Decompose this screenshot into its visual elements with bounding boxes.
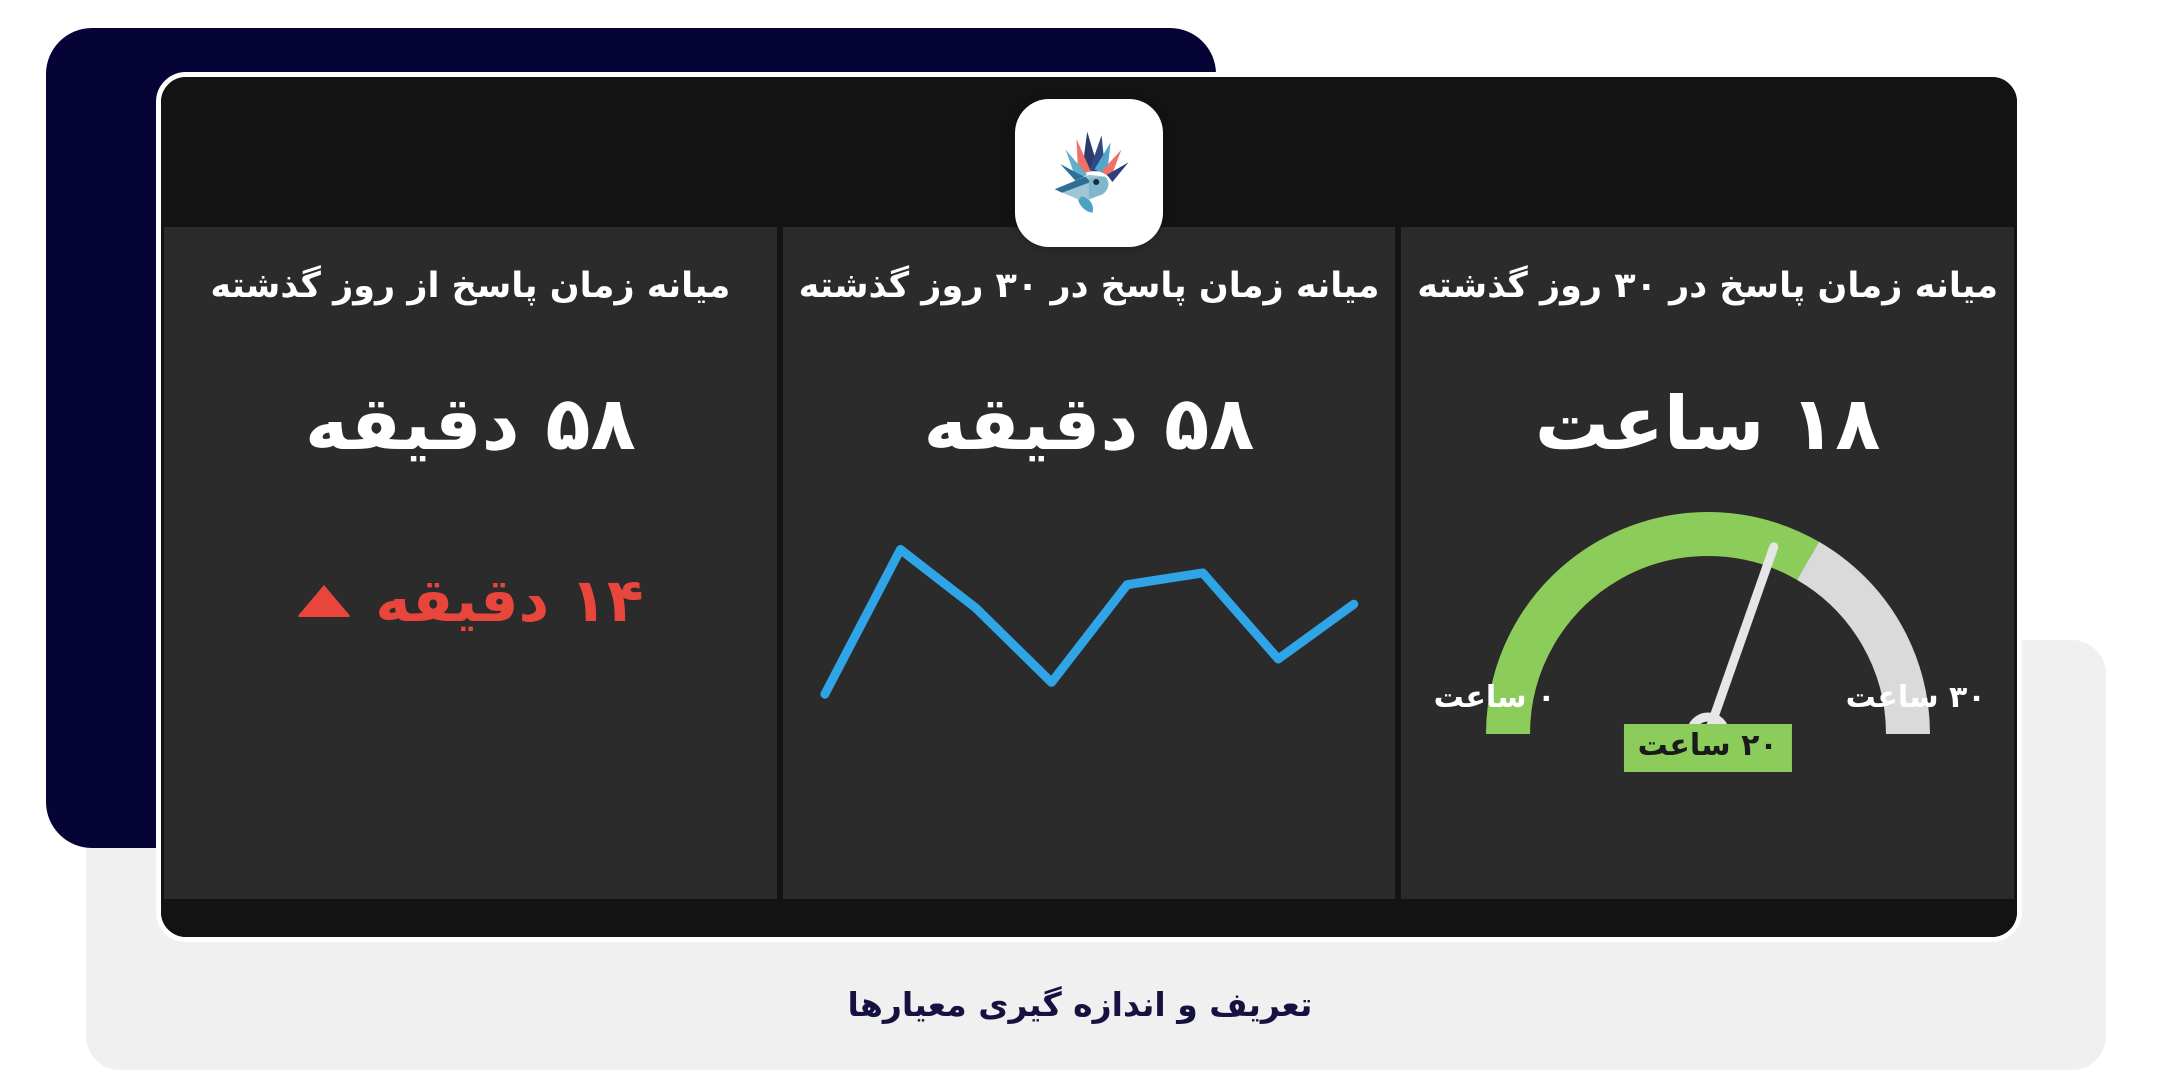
dashboard-panel: میانه زمان پاسخ در ۳۰ روز گذشته ۱۸ ساعت … [156,72,2022,942]
metric-card-gauge[interactable]: میانه زمان پاسخ در ۳۰ روز گذشته ۱۸ ساعت … [1401,227,2014,899]
card-value: ۱۸ ساعت [1535,384,1881,465]
hummingbird-logo-icon [1015,99,1163,247]
delta-indicator: ۱۴ دقیقه [297,566,643,636]
gauge-max-label: ۳۰ ساعت [1846,680,1986,715]
page-caption: تعریف و اندازه گیری معیارها [0,985,2160,1024]
metric-card-delta[interactable]: میانه زمان پاسخ از روز گذشته ۵۸ دقیقه ۱۴… [164,227,777,899]
card-value: ۵۸ دقیقه [305,384,636,465]
sparkline-chart [813,504,1366,714]
gauge-target-badge: ۲۰ ساعت [1624,724,1792,772]
metric-cards-row: میانه زمان پاسخ در ۳۰ روز گذشته ۱۸ ساعت … [161,227,2017,937]
gauge-min-label: ۰ ساعت [1434,680,1556,715]
screenshot-root: میانه زمان پاسخ در ۳۰ روز گذشته ۱۸ ساعت … [0,0,2160,1080]
card-title: میانه زمان پاسخ از روز گذشته [210,263,730,310]
card-value: ۵۸ دقیقه [924,384,1255,465]
card-title: میانه زمان پاسخ در ۳۰ روز گذشته [799,263,1380,310]
triangle-up-icon [297,585,351,617]
dashboard-topbar [161,77,2017,227]
delta-value: ۱۴ دقیقه [375,566,643,636]
metric-card-trend[interactable]: میانه زمان پاسخ در ۳۰ روز گذشته ۵۸ دقیقه [783,227,1396,899]
card-title: میانه زمان پاسخ در ۳۰ روز گذشته [1417,263,1998,310]
gauge-chart: ۰ ساعت ۳۰ ساعت ۲۰ ساعت [1428,484,1988,744]
